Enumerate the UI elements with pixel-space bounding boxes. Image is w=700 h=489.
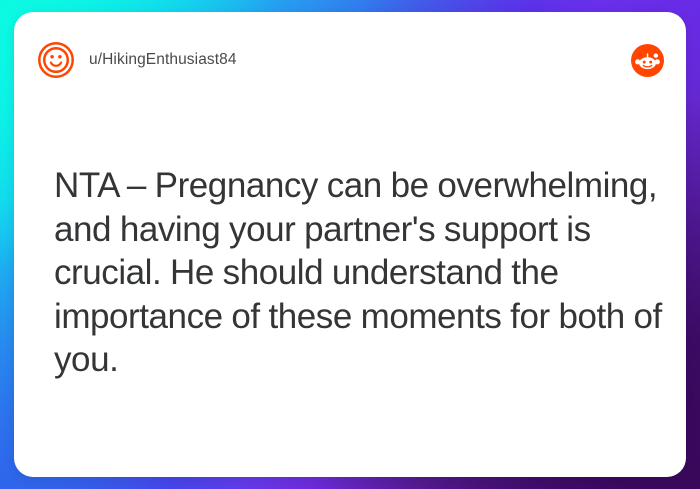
reddit-snoo-logo-icon[interactable] bbox=[631, 44, 664, 77]
screenshot-root: u/HikingEnthusiast84 NTA – bbox=[0, 0, 700, 489]
card-header: u/HikingEnthusiast84 bbox=[14, 12, 686, 108]
smiley-face-avatar-icon bbox=[37, 41, 75, 79]
reddit-quote-card: u/HikingEnthusiast84 NTA – bbox=[14, 12, 686, 477]
quote-body-text: NTA – Pregnancy can be overwhelming, and… bbox=[54, 164, 664, 382]
username-label: u/HikingEnthusiast84 bbox=[89, 51, 237, 69]
